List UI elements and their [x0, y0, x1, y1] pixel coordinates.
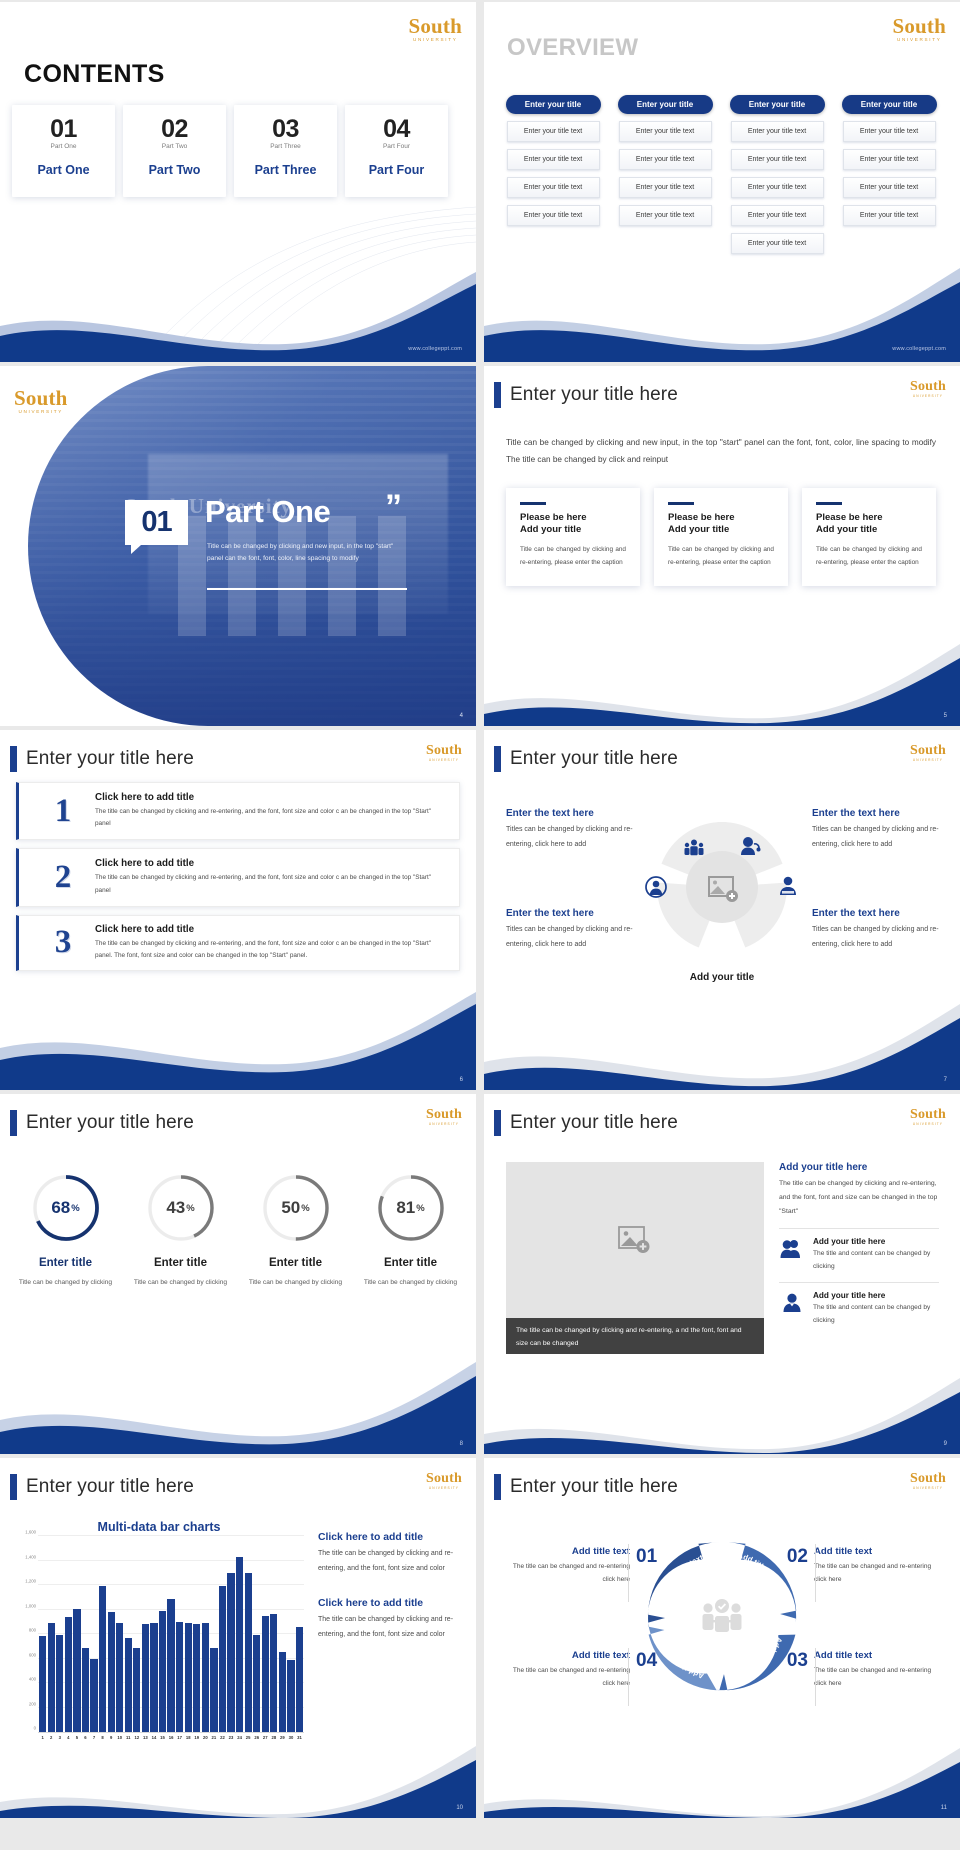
ring-title: Enter title — [123, 1257, 238, 1269]
item-number: 1 — [31, 795, 95, 828]
footer-wave — [0, 990, 476, 1090]
person-handshake-icon — [777, 876, 799, 896]
footer-wave — [484, 626, 960, 726]
item-title: Add your title here — [813, 1291, 939, 1300]
brand-subtitle: UNIVERSITY — [910, 759, 946, 762]
list-item[interactable]: Add your title here The title and conten… — [779, 1291, 939, 1328]
side-body: The title can be changed by clicking and… — [318, 1547, 458, 1576]
list-item[interactable]: 1 Click here to add title The title can … — [16, 782, 460, 840]
brand-subtitle: UNIVERSITY — [408, 38, 462, 43]
slide-cycle-diagram[interactable]: Enter your title here South UNIVERSITY — [484, 1458, 960, 1818]
bar — [99, 1586, 106, 1732]
percent-sign: % — [71, 1203, 79, 1214]
bar — [270, 1614, 277, 1732]
bar — [176, 1622, 183, 1732]
brand-name: South — [892, 16, 946, 37]
bar — [245, 1573, 252, 1732]
chart-side-text: Click here to add title The title can be… — [318, 1532, 458, 1643]
item-title: Click here to add title — [95, 924, 447, 935]
plot-area — [38, 1537, 304, 1733]
donut-value: 43% — [145, 1172, 217, 1244]
slide-header: Enter your title here — [494, 382, 678, 408]
overview-item[interactable]: Enter your title text — [731, 149, 824, 170]
brand-name: South — [910, 1108, 946, 1122]
page-title: CONTENTS — [24, 60, 165, 89]
block-description: The title can be changed and re-entering… — [814, 1665, 942, 1690]
cycle-number-02: 02 — [787, 1546, 808, 1568]
list-item[interactable]: 2 Click here to add title The title can … — [16, 848, 460, 906]
info-card[interactable]: Please be here Add your title Title can … — [506, 488, 640, 586]
brand-logo: South UNIVERSITY — [910, 1472, 946, 1490]
block-title: Enter the text here — [506, 808, 634, 819]
side-body: The title can be changed by clicking and… — [318, 1613, 458, 1642]
page-title: Enter your title here — [26, 1476, 194, 1498]
brand-logo: South UNIVERSITY — [910, 1108, 946, 1126]
list-item[interactable]: Add your title here The title and conten… — [779, 1237, 939, 1274]
bar — [65, 1617, 72, 1732]
overview-item[interactable]: Enter your title text — [843, 149, 936, 170]
card-number: 03 — [234, 116, 337, 142]
percent-sign: % — [416, 1203, 424, 1214]
card-name: Part Three — [234, 163, 337, 177]
group-people-icon — [683, 838, 705, 856]
brand-subtitle: UNIVERSITY — [910, 1487, 946, 1490]
overview-item[interactable]: Enter your title text — [731, 205, 824, 226]
block-title: Enter the text here — [812, 808, 940, 819]
donut-chart: 50% — [260, 1172, 332, 1244]
contents-card[interactable]: 02 Part Two Part Two — [123, 105, 226, 197]
divider — [815, 1544, 816, 1602]
side-heading: Click here to add title — [318, 1532, 458, 1543]
wheel-diagram[interactable] — [653, 818, 791, 956]
brand-logo: South UNIVERSITY — [426, 744, 462, 762]
slide-header: Enter your title here — [10, 1474, 194, 1500]
block-description: The title can be changed and re-entering… — [814, 1561, 942, 1586]
brand-logo: South UNIVERSITY — [910, 380, 946, 398]
brand-name: South — [14, 388, 68, 409]
bar — [48, 1623, 55, 1732]
overview-item[interactable]: Enter your title text — [507, 205, 600, 226]
brand-subtitle: UNIVERSITY — [910, 1123, 946, 1126]
bar — [73, 1609, 80, 1732]
title-accent-bar — [494, 1474, 501, 1500]
image-caption: The title can be changed by clicking and… — [506, 1318, 764, 1354]
contents-card[interactable]: 03 Part Three Part Three — [234, 105, 337, 197]
column-header-pill[interactable]: Enter your title — [730, 95, 825, 114]
item-description: The title and content can be changed by … — [813, 1302, 939, 1328]
column-header-pill[interactable]: Enter your title — [842, 95, 937, 114]
title-accent-bar — [10, 746, 17, 772]
item-description: The title and content can be changed by … — [813, 1248, 939, 1274]
card-body: Title can be changed by clicking and re-… — [668, 544, 774, 569]
slide-deck: South UNIVERSITY CONTENTS 01 Part One Pa… — [0, 0, 960, 1818]
overview-item[interactable]: Enter your title text — [731, 233, 824, 254]
overview-item[interactable]: Enter your title text — [507, 121, 600, 142]
chart-title: Multi-data bar charts — [14, 1520, 304, 1534]
bar — [150, 1623, 157, 1732]
card-number: 02 — [123, 116, 226, 142]
page-title: Enter your title here — [510, 384, 678, 406]
overview-item[interactable]: Enter your title text — [619, 205, 712, 226]
brand-name: South — [426, 744, 462, 758]
divider — [628, 1544, 629, 1602]
y-tick-label: 400 — [29, 1677, 36, 1682]
cycle-text-block-01[interactable]: Add title text The title can be changed … — [502, 1546, 630, 1586]
y-axis-tick-labels: 02004006008001,0001,2001,4001,600 — [14, 1537, 38, 1733]
ring-title: Enter title — [238, 1257, 353, 1269]
percent-sign: % — [186, 1203, 194, 1214]
overview-column: Enter your title Enter your title text E… — [840, 95, 938, 254]
y-tick-label: 1,000 — [25, 1603, 36, 1608]
brand-name: South — [426, 1472, 462, 1486]
footer-url: www.collegeppt.com — [892, 346, 946, 352]
block-title: Add title text — [502, 1546, 630, 1557]
page-title: OVERVIEW — [507, 34, 638, 62]
image-placeholder[interactable] — [506, 1162, 764, 1318]
brand-subtitle: UNIVERSITY — [426, 1487, 462, 1490]
card-list: Please be here Add your title Title can … — [506, 488, 936, 586]
card-accent-dash — [520, 502, 546, 505]
donut-chart: 43% — [145, 1172, 217, 1244]
y-tick-label: 800 — [29, 1628, 36, 1633]
bar — [116, 1623, 123, 1732]
donut-chart: 81% — [375, 1172, 447, 1244]
donut-value: 50% — [260, 1172, 332, 1244]
lead-paragraph: Title can be changed by clicking and new… — [506, 434, 936, 468]
card-subtitle: Part One — [12, 143, 115, 150]
title-accent-bar — [494, 1110, 501, 1136]
overview-column: Enter your title Enter your title text E… — [616, 95, 714, 254]
cycle-number-01: 01 — [636, 1546, 657, 1568]
bar — [219, 1586, 226, 1732]
divider — [779, 1228, 939, 1229]
bar — [142, 1624, 149, 1732]
item-description: The title can be changed by clicking and… — [95, 872, 447, 896]
item-title: Add your title here — [813, 1237, 939, 1246]
page-title: Enter your title here — [26, 1112, 194, 1134]
overview-item[interactable]: Enter your title text — [507, 149, 600, 170]
block-title: Add title text — [814, 1546, 942, 1557]
brand-logo: South UNIVERSITY — [426, 1108, 462, 1126]
percent-sign: % — [301, 1203, 309, 1214]
card-subtitle: Part Two — [123, 143, 226, 150]
footer-wave — [484, 990, 960, 1090]
donut-value: 68% — [30, 1172, 102, 1244]
bar-series — [38, 1537, 304, 1732]
slide-header: Enter your title here — [10, 746, 194, 772]
overview-item[interactable]: Enter your title text — [843, 205, 936, 226]
page-title: Enter your title here — [26, 748, 194, 770]
y-tick-label: 600 — [29, 1652, 36, 1657]
page-number: 10 — [456, 1805, 463, 1811]
footer-url: www.collegeppt.com — [408, 346, 462, 352]
y-tick-label: 1,400 — [25, 1554, 36, 1559]
brand-logo: South UNIVERSITY — [408, 16, 462, 43]
block-title: Add title text — [814, 1650, 942, 1661]
block-description: The title can be changed and re-entering… — [502, 1665, 630, 1690]
bar — [159, 1611, 166, 1732]
slide-section-divider-part-one[interactable]: South UNIVERSITY South University 01 Par… — [0, 366, 476, 726]
overview-item[interactable]: Enter your title text — [731, 121, 824, 142]
divider — [779, 1282, 939, 1283]
card-name: Part Four — [345, 163, 448, 177]
image-placeholder-icon — [618, 1226, 652, 1254]
info-card[interactable]: Please be here Add your title Title can … — [654, 488, 788, 586]
block-description: The title can be changed and re-entering… — [502, 1561, 630, 1586]
block-description: Titles can be changed by clicking and re… — [506, 823, 634, 852]
card-number: 04 — [345, 116, 448, 142]
bar — [202, 1623, 209, 1732]
block-title: Enter the text here — [506, 908, 634, 919]
panel-heading: Add your title here — [779, 1162, 939, 1173]
divider — [628, 1648, 629, 1706]
wheel-text-block-bottom-left[interactable]: Enter the text here Titles can be change… — [506, 908, 634, 952]
brand-subtitle: UNIVERSITY — [14, 410, 68, 415]
cycle-text-block-04[interactable]: Add title text The title can be changed … — [502, 1650, 630, 1690]
panel-body: The title can be changed by clicking and… — [779, 1177, 939, 1219]
donut-number: 43 — [166, 1198, 185, 1218]
slide-numbered-list[interactable]: Enter your title here South UNIVERSITY 1… — [0, 730, 476, 1090]
cycle-diagram[interactable]: Add title text Add title text Add title … — [642, 1536, 802, 1696]
ring-item[interactable]: 43% Enter title Title can be changed by … — [123, 1172, 238, 1289]
footer-wave — [484, 262, 960, 362]
overview-item[interactable]: Enter your title text — [619, 121, 712, 142]
card-heading-line2: Add your title — [520, 524, 626, 537]
overview-item[interactable]: Enter your title text — [507, 177, 600, 198]
slide-image-and-list[interactable]: Enter your title here South UNIVERSITY T… — [484, 1094, 960, 1454]
overview-item[interactable]: Enter your title text — [731, 177, 824, 198]
page-number: 8 — [460, 1441, 463, 1447]
footer-wave — [484, 1718, 960, 1818]
quote-mark-icon: ” — [385, 490, 402, 524]
block-description: Titles can be changed by clicking and re… — [812, 823, 940, 852]
bar — [167, 1599, 174, 1732]
building-columns — [178, 516, 428, 636]
card-heading-line2: Add your title — [816, 524, 922, 537]
side-heading: Click here to add title — [318, 1598, 458, 1609]
brand-name: South — [910, 744, 946, 758]
page-number: 9 — [944, 1441, 947, 1447]
slide-percent-rings[interactable]: Enter your title here South UNIVERSITY 6… — [0, 1094, 476, 1454]
contents-card[interactable]: 04 Part Four Part Four — [345, 105, 448, 197]
overview-item[interactable]: Enter your title text — [843, 121, 936, 142]
cycle-number-03: 03 — [787, 1650, 808, 1672]
item-number: 2 — [31, 861, 95, 894]
page-number: 6 — [460, 1077, 463, 1083]
donut-value: 81% — [375, 1172, 447, 1244]
brand-name: South — [408, 16, 462, 37]
item-number: 3 — [31, 926, 95, 959]
wheel-text-block-top-left[interactable]: Enter the text here Titles can be change… — [506, 808, 634, 852]
bar — [262, 1616, 269, 1732]
slide-bar-chart[interactable]: Enter your title here South UNIVERSITY M… — [0, 1458, 476, 1818]
two-people-icon — [779, 1237, 805, 1259]
person-headset-icon — [739, 836, 761, 856]
page-title: Enter your title here — [510, 748, 678, 770]
overview-item[interactable]: Enter your title text — [619, 177, 712, 198]
page-title: Enter your title here — [510, 1112, 678, 1134]
title-accent-bar — [10, 1474, 17, 1500]
cycle-text-block-03[interactable]: Add title text The title can be changed … — [814, 1650, 942, 1690]
card-accent-dash — [816, 502, 842, 505]
overview-columns: Enter your title Enter your title text E… — [504, 95, 938, 254]
ring-subtitle: Title can be changed by clicking — [238, 1277, 353, 1289]
slide-contents[interactable]: South UNIVERSITY CONTENTS 01 Part One Pa… — [0, 2, 476, 362]
card-subtitle: Part Three — [234, 143, 337, 150]
slide-three-cards[interactable]: Enter your title here South UNIVERSITY T… — [484, 366, 960, 726]
page-number: 4 — [460, 713, 463, 719]
column-header-pill[interactable]: Enter your title — [618, 95, 713, 114]
ring-title: Enter title — [353, 1257, 468, 1269]
page-title: Enter your title here — [510, 1476, 678, 1498]
block-description: Titles can be changed by clicking and re… — [812, 923, 940, 952]
y-tick-label: 1,600 — [25, 1530, 36, 1535]
brand-subtitle: UNIVERSITY — [426, 1123, 462, 1126]
info-card[interactable]: Please be here Add your title Title can … — [802, 488, 936, 586]
block-description: Titles can be changed by clicking and re… — [506, 923, 634, 952]
footer-wave — [0, 1718, 476, 1818]
ring-subtitle: Title can be changed by clicking — [353, 1277, 468, 1289]
card-heading-line2: Add your title — [668, 524, 774, 537]
overview-item[interactable]: Enter your title text — [843, 177, 936, 198]
item-title: Click here to add title — [95, 858, 447, 869]
card-body: Title can be changed by clicking and re-… — [816, 544, 922, 569]
item-description: The title can be changed by clicking and… — [95, 806, 447, 830]
cycle-number-04: 04 — [636, 1650, 657, 1672]
ring-subtitle: Title can be changed by clicking — [123, 1277, 238, 1289]
slide-header: Enter your title here — [494, 746, 678, 772]
brand-subtitle: UNIVERSITY — [426, 759, 462, 762]
slide-header: Enter your title here — [494, 1474, 678, 1500]
brand-logo: South UNIVERSITY — [892, 16, 946, 43]
donut-number: 50 — [281, 1198, 300, 1218]
ring-item[interactable]: 81% Enter title Title can be changed by … — [353, 1172, 468, 1289]
block-title: Add title text — [502, 1650, 630, 1661]
item-title: Click here to add title — [95, 792, 447, 803]
title-accent-bar — [494, 746, 501, 772]
brand-subtitle: UNIVERSITY — [892, 38, 946, 43]
footer-wave — [0, 1354, 476, 1454]
card-name: Part One — [12, 163, 115, 177]
section-description: Title can be changed by clicking and new… — [207, 541, 407, 565]
card-name: Part Two — [123, 163, 226, 177]
divider — [815, 1648, 816, 1706]
page-number: 5 — [944, 713, 947, 719]
brand-name: South — [426, 1108, 462, 1122]
title-accent-bar — [494, 382, 501, 408]
bar — [185, 1623, 192, 1732]
card-body: Title can be changed by clicking and re-… — [520, 544, 626, 569]
card-heading-line1: Please be here — [816, 512, 922, 525]
bar — [236, 1557, 243, 1733]
donut-number: 81 — [396, 1198, 415, 1218]
bar — [227, 1573, 234, 1732]
single-person-icon — [779, 1291, 805, 1313]
slide-header: Enter your title here — [10, 1110, 194, 1136]
contents-card[interactable]: 01 Part One Part One — [12, 105, 115, 197]
footer-wave — [484, 1354, 960, 1454]
numbered-row-list: 1 Click here to add title The title can … — [16, 782, 460, 971]
bar — [108, 1612, 115, 1732]
detail-panel: Add your title here The title can be cha… — [779, 1162, 939, 1328]
title-accent-bar — [10, 1110, 17, 1136]
donut-chart: 68% — [30, 1172, 102, 1244]
divider-rule — [207, 588, 407, 590]
bar — [296, 1627, 303, 1732]
list-item[interactable]: 3 Click here to add title The title can … — [16, 915, 460, 971]
y-tick-label: 1,200 — [25, 1579, 36, 1584]
block-title: Enter the text here — [812, 908, 940, 919]
section-title: Part One — [205, 494, 330, 530]
card-heading-line1: Please be here — [668, 512, 774, 525]
slide-overview[interactable]: South UNIVERSITY OVERVIEW Enter your tit… — [484, 2, 960, 362]
brand-logo: South UNIVERSITY — [426, 1472, 462, 1490]
ring-list: 68% Enter title Title can be changed by … — [8, 1172, 468, 1289]
overview-item[interactable]: Enter your title text — [619, 149, 712, 170]
page-number: 11 — [941, 1805, 947, 1811]
item-description: The title can be changed by clicking and… — [95, 938, 447, 962]
ring-subtitle: Title can be changed by clicking — [8, 1277, 123, 1289]
ring-item[interactable]: 50% Enter title Title can be changed by … — [238, 1172, 353, 1289]
section-number-badge: 01 — [125, 500, 188, 545]
y-tick-label: 200 — [29, 1701, 36, 1706]
footer-wave — [0, 262, 476, 362]
wheel-center-title: Add your title — [690, 972, 754, 983]
ring-item[interactable]: 68% Enter title Title can be changed by … — [8, 1172, 123, 1289]
column-header-pill[interactable]: Enter your title — [506, 95, 601, 114]
wheel-text-block-top-right[interactable]: Enter the text here Titles can be change… — [812, 808, 940, 852]
card-accent-dash — [668, 502, 694, 505]
page-number: 7 — [944, 1077, 947, 1083]
brand-subtitle: UNIVERSITY — [910, 395, 946, 398]
card-subtitle: Part Four — [345, 143, 448, 150]
donut-number: 68 — [51, 1198, 70, 1218]
contents-card-list: 01 Part One Part One 02 Part Two Part Tw… — [12, 105, 448, 197]
brand-logo: South UNIVERSITY — [910, 744, 946, 762]
card-heading-line1: Please be here — [520, 512, 626, 525]
brand-name: South — [910, 380, 946, 394]
brand-name: South — [910, 1472, 946, 1486]
person-circle-icon — [645, 876, 667, 898]
card-number: 01 — [12, 116, 115, 142]
ring-title: Enter title — [8, 1257, 123, 1269]
overview-column: Enter your title Enter your title text E… — [504, 95, 602, 254]
slide-segmented-wheel[interactable]: Enter your title here South UNIVERSITY E… — [484, 730, 960, 1090]
wheel-text-block-bottom-right[interactable]: Enter the text here Titles can be change… — [812, 908, 940, 952]
slide-header: Enter your title here — [494, 1110, 678, 1136]
bar — [193, 1624, 200, 1732]
overview-column: Enter your title Enter your title text E… — [728, 95, 826, 254]
brand-logo: South UNIVERSITY — [14, 388, 68, 415]
cycle-text-block-02[interactable]: Add title text The title can be changed … — [814, 1546, 942, 1586]
